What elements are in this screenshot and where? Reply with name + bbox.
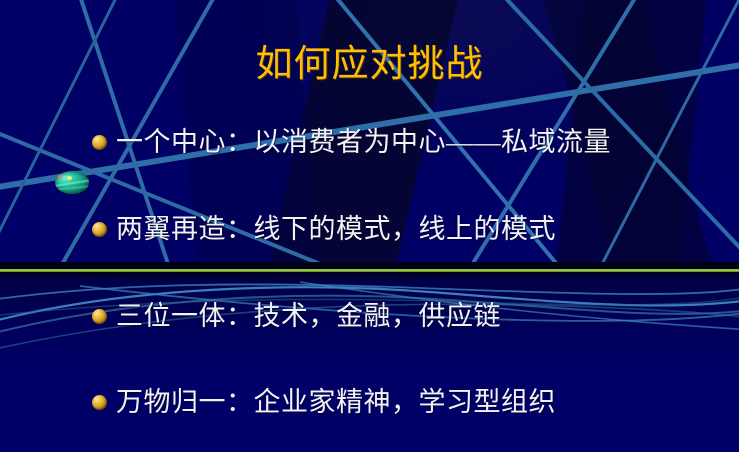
bullet-sphere-icon	[92, 309, 107, 324]
bullet-text-3: 三位一体：技术，金融，供应链	[116, 300, 501, 332]
bullet-item-1: 一个中心：以消费者为中心——私域流量	[92, 126, 611, 158]
bullet-sphere-icon	[92, 395, 107, 410]
bullet-item-4: 万物归一：企业家精神，学习型组织	[92, 386, 556, 418]
bullet-text-2: 两翼再造：线下的模式，线上的模式	[116, 213, 556, 245]
bullet-sphere-icon	[92, 222, 107, 237]
presentation-slide: 如何应对挑战 一个中心：以消费者为中心——私域流量 两翼再造：线下的模式，线上的…	[0, 0, 739, 452]
bullet-text-1: 一个中心：以消费者为中心——私域流量	[116, 126, 611, 158]
slide-body: 一个中心：以消费者为中心——私域流量 两翼再造：线下的模式，线上的模式 三位一体…	[0, 0, 739, 452]
bullet-text-4: 万物归一：企业家精神，学习型组织	[116, 386, 556, 418]
bullet-item-2: 两翼再造：线下的模式，线上的模式	[92, 213, 556, 245]
bullet-item-3: 三位一体：技术，金融，供应链	[92, 300, 501, 332]
bullet-sphere-icon	[92, 135, 107, 150]
